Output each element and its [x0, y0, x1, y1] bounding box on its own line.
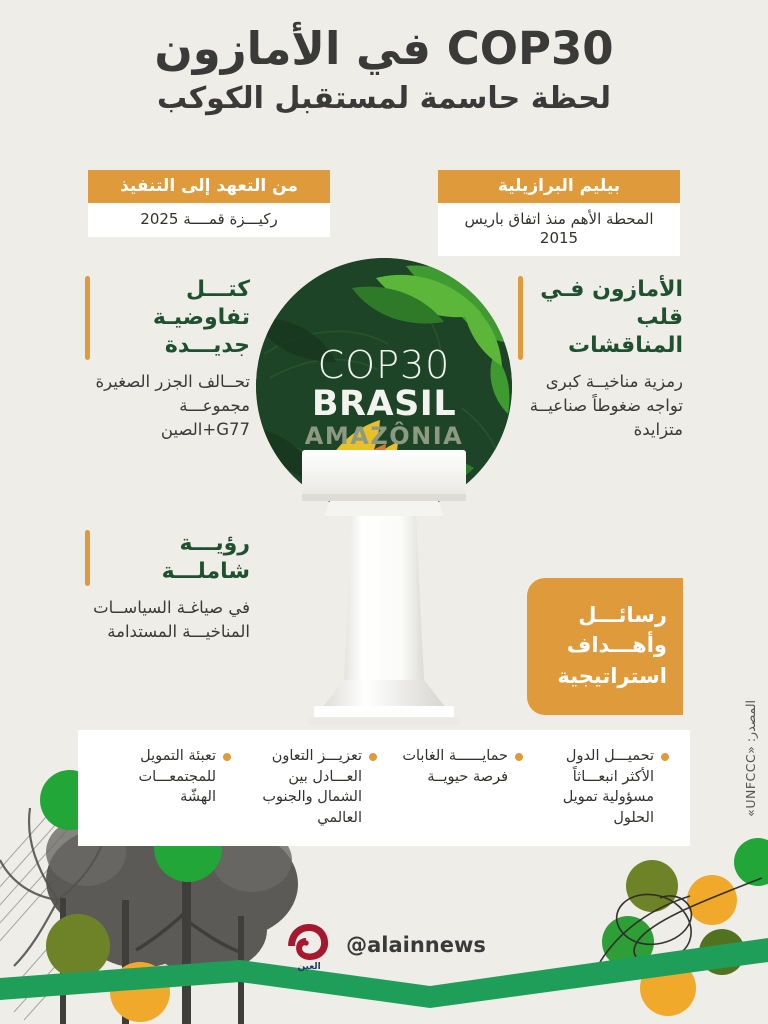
list-item: تعبئة التمويل للمجتمعـــات الهشّة [92, 746, 238, 828]
brand-handle: @alainnews [346, 933, 486, 957]
brand-footer: العين @alainnews [282, 918, 486, 972]
section-holistic-vision-title: رؤيـــة شاملـــة [99, 530, 250, 586]
section-new-blocs-title: كتـــل تفاوضيـة جديـــدة [99, 276, 250, 360]
bullet-dot-icon [515, 753, 523, 761]
section-holistic-vision-body: في صياغـة السياســات المناخيـــة المستدا… [85, 596, 250, 644]
badge-pledge: من التعهد إلى التنفيذ ركيـــزة قمــــة 2… [88, 170, 330, 237]
list-item: تعزيـــز التعاون العـــادل بين الشمال وا… [238, 746, 384, 828]
section-amazon-core-title: الأمازون فـي قلب المناقشات [532, 276, 683, 360]
badge-pledge-title: من التعهد إلى التنفيذ [88, 170, 330, 203]
section-new-blocs-body: تحــالف الجزر الصغيرة مجموعـــة G77+الصي… [85, 370, 250, 442]
badge-belem-body: المحطة الأهم منذ اتفاق باريس 2015 [438, 203, 680, 256]
bullet-dot-icon [661, 753, 669, 761]
page-header: COP30 في الأمازون لحظة حاسمة لمستقبل الك… [0, 24, 768, 117]
section-amazon-core-head: الأمازون فـي قلب المناقشات [518, 276, 683, 360]
podium-lectern [294, 450, 474, 730]
emblem-line-amazonia: AMAZÔNIA [256, 424, 512, 449]
badge-belem: بيليم البرازيلية المحطة الأهم منذ اتفاق … [438, 170, 680, 256]
badge-belem-title: بيليم البرازيلية [438, 170, 680, 203]
svg-text:العين: العين [297, 962, 320, 972]
accent-bar [85, 530, 90, 586]
bullet-dot-icon [369, 753, 377, 761]
section-amazon-core: الأمازون فـي قلب المناقشات رمزية مناخيــ… [518, 276, 683, 442]
callout-strategic-goals: رسائـــل وأهـــداف استراتيجية [527, 578, 683, 715]
section-new-blocs: كتـــل تفاوضيـة جديـــدة تحــالف الجزر ا… [85, 276, 250, 442]
accent-bar [85, 276, 90, 360]
bullet-dot-icon [223, 753, 231, 761]
section-new-blocs-head: كتـــل تفاوضيـة جديـــدة [85, 276, 250, 360]
list-item-label: تحميـــل الدول الأكثر انبعـــاثاً مسؤولي… [537, 746, 654, 828]
list-item: حمايــــــة الغابات فرصة حيويــة [384, 746, 530, 828]
section-holistic-vision-head: رؤيـــة شاملـــة [85, 530, 250, 586]
source-credit: المصدر: «UNFCCC» [743, 700, 758, 817]
badge-pledge-body: ركيـــزة قمــــة 2025 [88, 203, 330, 237]
emblem-line-brasil: BRASIL [256, 386, 512, 423]
list-item: تحميـــل الدول الأكثر انبعـــاثاً مسؤولي… [530, 746, 676, 828]
emblem-text: COP30 BRASIL AMAZÔNIA [256, 346, 512, 449]
infographic-canvas: COP30 في الأمازون لحظة حاسمة لمستقبل الك… [0, 0, 768, 1024]
section-amazon-core-body: رمزية مناخيــة كبرى تواجه ضغوطاً صناعيــ… [518, 370, 683, 442]
section-holistic-vision: رؤيـــة شاملـــة في صياغـة السياســات ال… [85, 530, 250, 644]
page-title: COP30 في الأمازون [0, 24, 768, 74]
emblem-line-cop30: COP30 [256, 346, 512, 384]
list-item-label: تعزيـــز التعاون العـــادل بين الشمال وا… [245, 746, 362, 828]
key-messages-bar: تحميـــل الدول الأكثر انبعـــاثاً مسؤولي… [78, 730, 690, 846]
alain-logo-icon: العين [282, 918, 336, 972]
page-subtitle: لحظة حاسمة لمستقبل الكوكب [0, 82, 768, 117]
list-item-label: تعبئة التمويل للمجتمعـــات الهشّة [99, 746, 216, 808]
accent-bar [518, 276, 523, 360]
list-item-label: حمايــــــة الغابات فرصة حيويــة [391, 746, 508, 787]
